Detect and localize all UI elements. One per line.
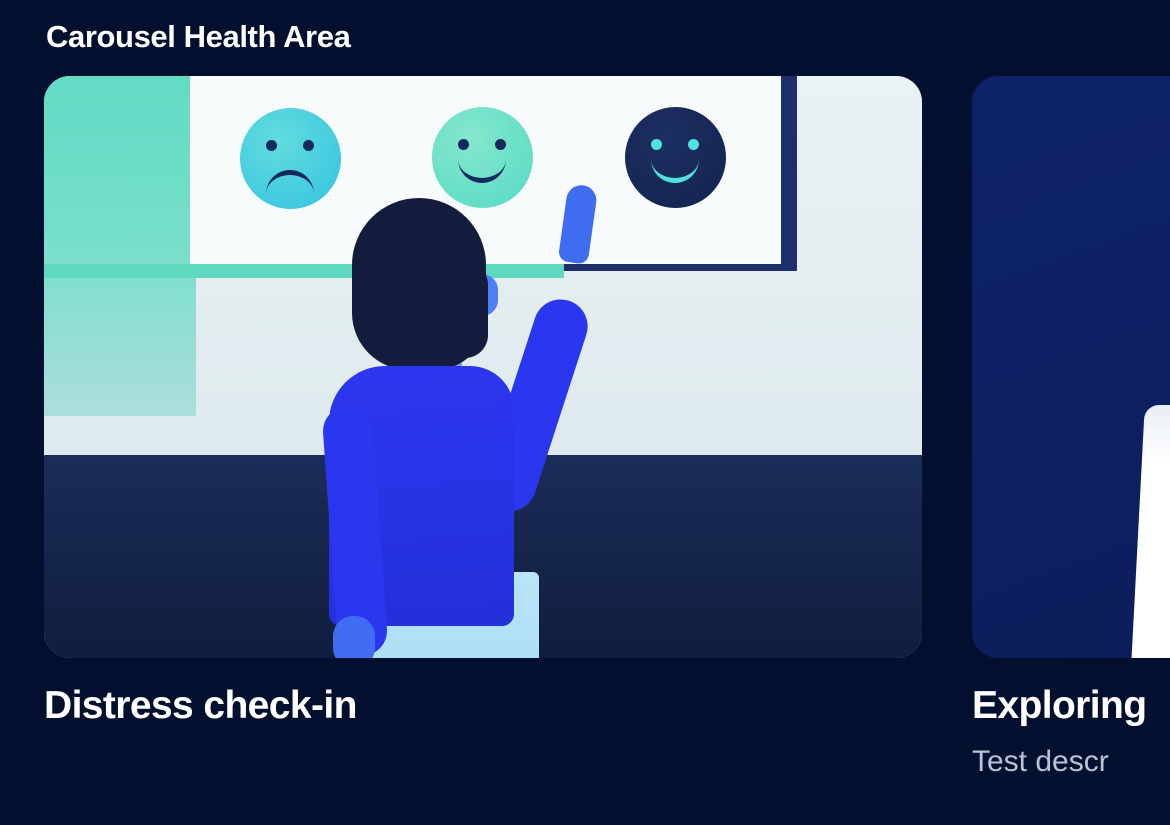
illustration-exploring [972,76,1170,658]
carousel-card-exploring[interactable]: Exploring Test descr [972,76,1170,779]
card-title: Exploring [972,684,1170,729]
eye-right [495,139,506,150]
happy-face-mint-icon [432,107,533,208]
hair [352,198,486,370]
illustration-distress-check-in [44,76,922,658]
mouth-smile [651,157,699,183]
eye-right [303,140,314,151]
page-title: Carousel Health Area [46,18,350,55]
carousel-track[interactable]: Distress check-in Exploring Test descr [0,76,1170,825]
sad-face-icon [240,108,341,209]
card-media[interactable] [44,76,922,658]
eye-right [688,139,699,150]
eye-left [458,139,469,150]
happy-face-navy-icon [625,107,726,208]
card-media[interactable] [972,76,1170,658]
white-panel [1131,405,1170,658]
eye-left [266,140,277,151]
lowered-hand [333,616,375,658]
carousel-card-distress-check-in[interactable]: Distress check-in [44,76,922,745]
eye-left [651,139,662,150]
mouth-frown [266,170,314,196]
card-description: Test descr [972,745,1170,780]
mouth-smile [458,157,506,183]
card-title: Distress check-in [44,684,922,729]
